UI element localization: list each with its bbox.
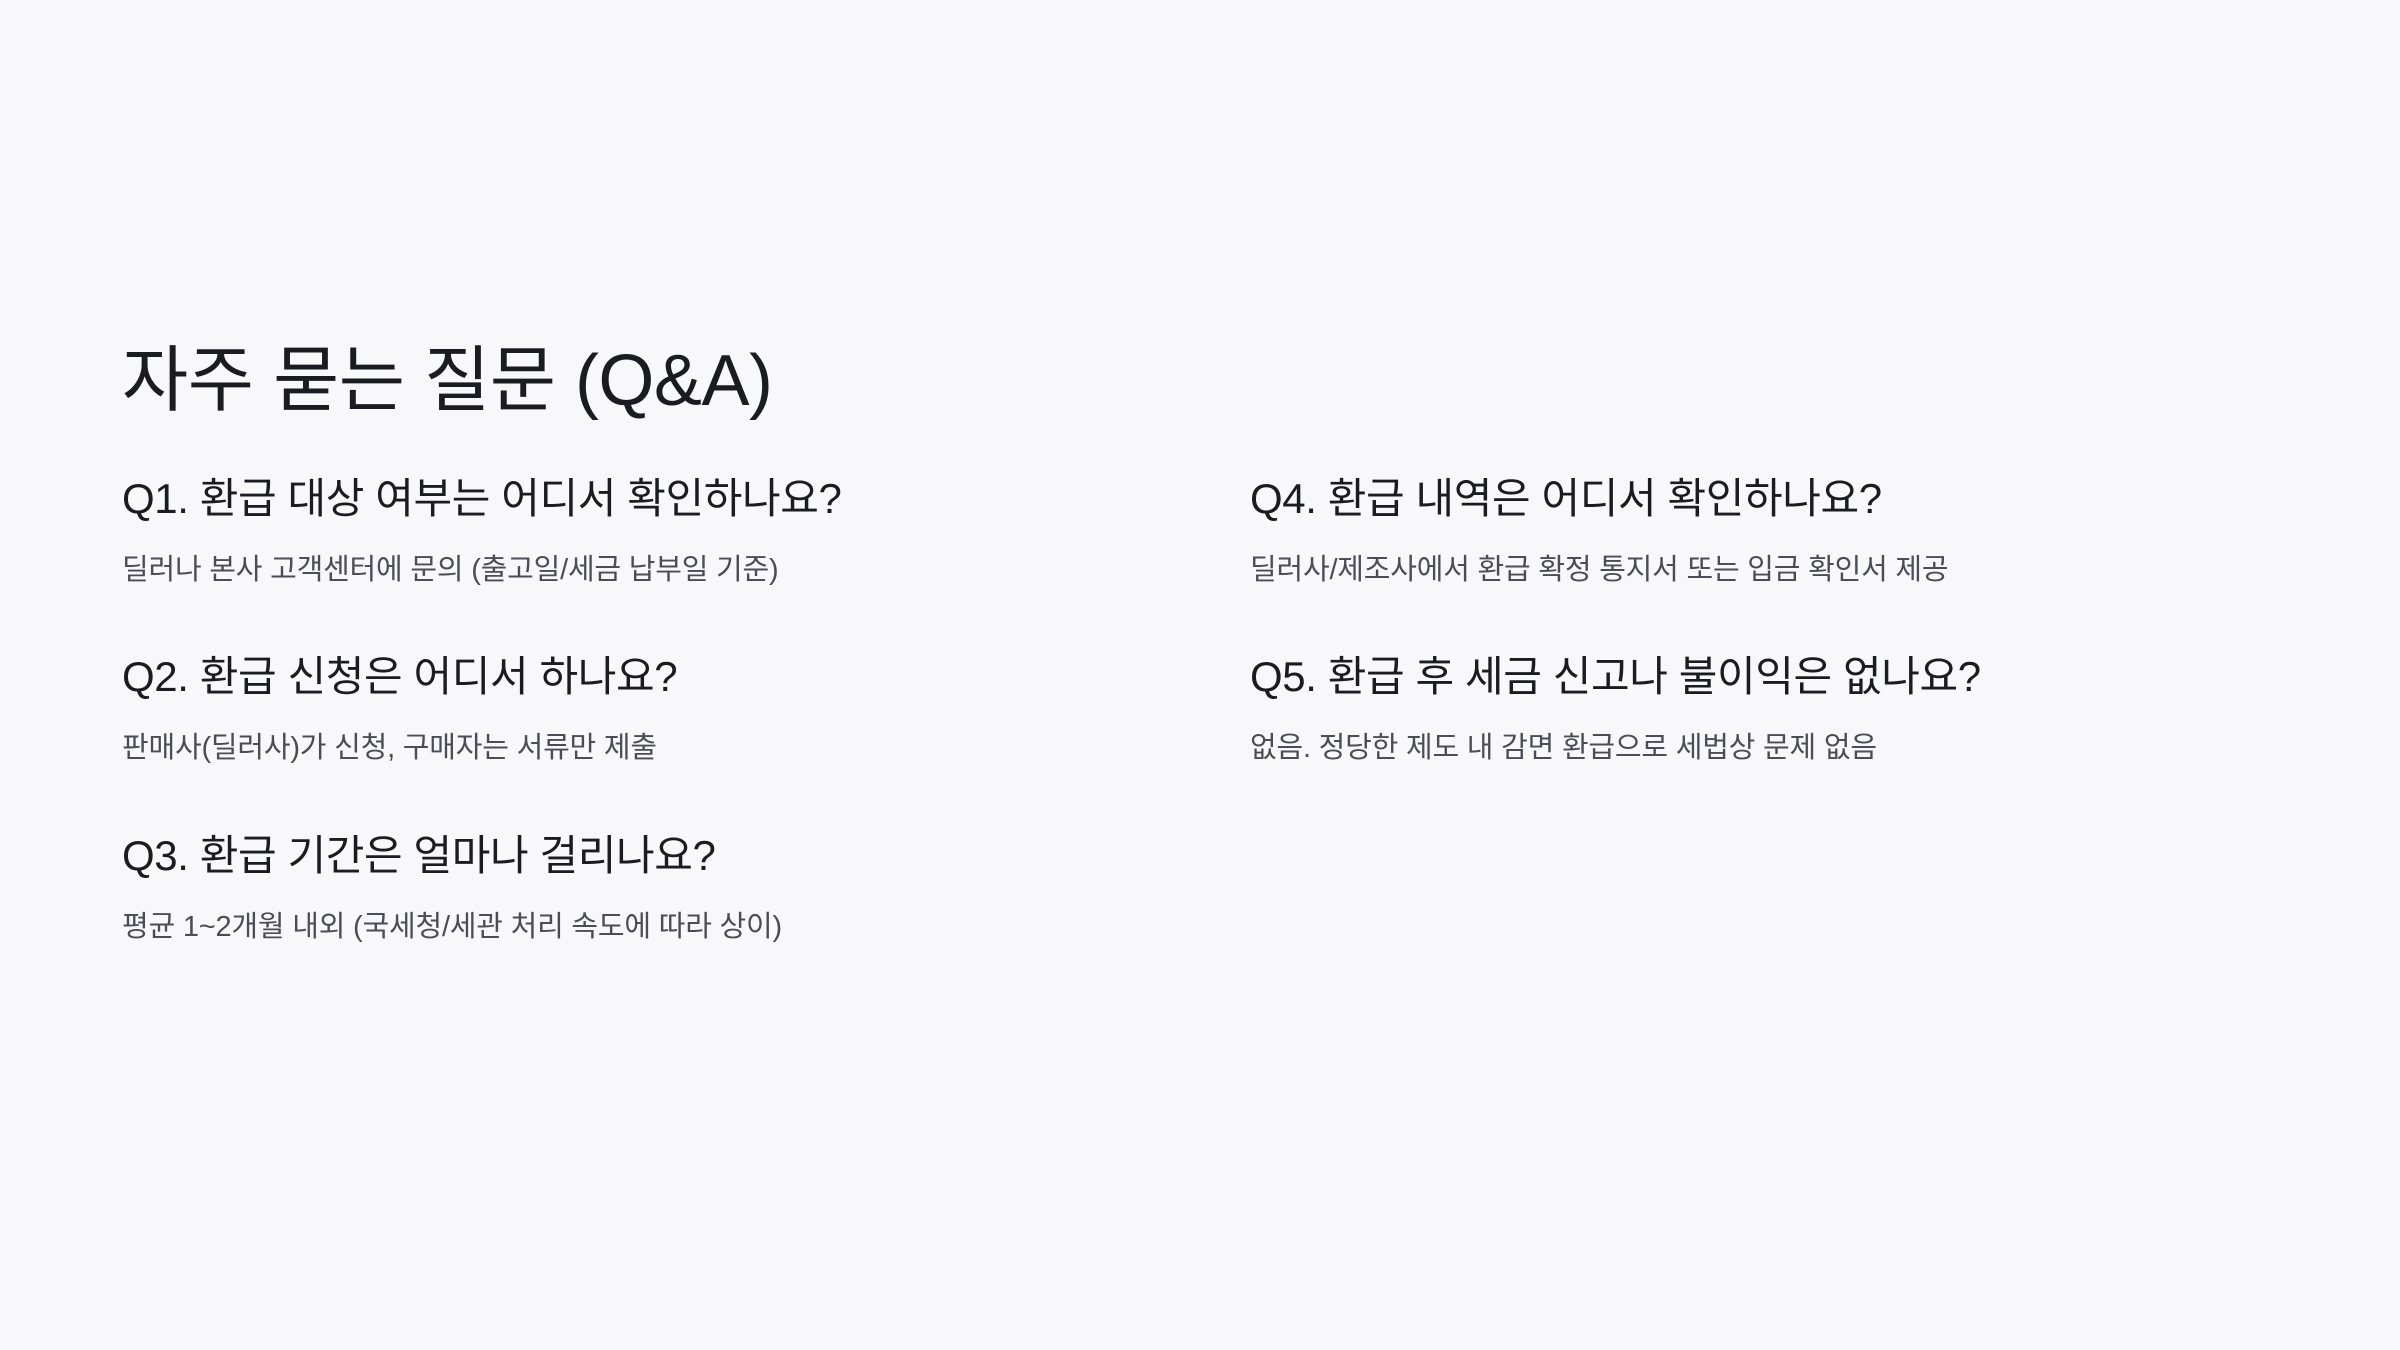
qa-columns: Q1. 환급 대상 여부는 어디서 확인하나요? 딜러나 본사 고객센터에 문의…	[122, 472, 2282, 977]
qa-answer-a2: 판매사(딜러사)가 신청, 구매자는 서류만 제출	[122, 730, 1250, 768]
qa-answer-a4: 딜러사/제조사에서 환급 확정 통지서 또는 입금 확인서 제공	[1250, 552, 2378, 590]
qa-item-q2: Q2. 환급 신청은 어디서 하나요? 판매사(딜러사)가 신청, 구매자는 서…	[122, 650, 1250, 798]
qa-question-q3: Q3. 환급 기간은 얼마나 걸리나요?	[122, 829, 1250, 883]
faq-slide: 자주 묻는 질문 (Q&A) Q1. 환급 대상 여부는 어디서 확인하나요? …	[0, 0, 2400, 1350]
qa-item-q1: Q1. 환급 대상 여부는 어디서 확인하나요? 딜러나 본사 고객센터에 문의…	[122, 472, 1250, 620]
qa-answer-a1: 딜러나 본사 고객센터에 문의 (출고일/세금 납부일 기준)	[122, 552, 1250, 590]
qa-item-q5: Q5. 환급 후 세금 신고나 불이익은 없나요? 없음. 정당한 제도 내 감…	[1250, 650, 2378, 798]
qa-answer-a5: 없음. 정당한 제도 내 감면 환급으로 세법상 문제 없음	[1250, 730, 2378, 768]
qa-question-q5: Q5. 환급 후 세금 신고나 불이익은 없나요?	[1250, 650, 2378, 704]
qa-question-q2: Q2. 환급 신청은 어디서 하나요?	[122, 650, 1250, 704]
qa-column-right: Q4. 환급 내역은 어디서 확인하나요? 딜러사/제조사에서 환급 확정 통지…	[1250, 472, 2378, 977]
qa-item-q3: Q3. 환급 기간은 얼마나 걸리나요? 평균 1~2개월 내외 (국세청/세관…	[122, 829, 1250, 977]
page-title: 자주 묻는 질문 (Q&A)	[122, 344, 772, 420]
qa-question-q1: Q1. 환급 대상 여부는 어디서 확인하나요?	[122, 472, 1250, 526]
qa-answer-a3: 평균 1~2개월 내외 (국세청/세관 처리 속도에 따라 상이)	[122, 909, 1250, 947]
qa-column-left: Q1. 환급 대상 여부는 어디서 확인하나요? 딜러나 본사 고객센터에 문의…	[122, 472, 1250, 977]
qa-item-q4: Q4. 환급 내역은 어디서 확인하나요? 딜러사/제조사에서 환급 확정 통지…	[1250, 472, 2378, 620]
qa-question-q4: Q4. 환급 내역은 어디서 확인하나요?	[1250, 472, 2378, 526]
